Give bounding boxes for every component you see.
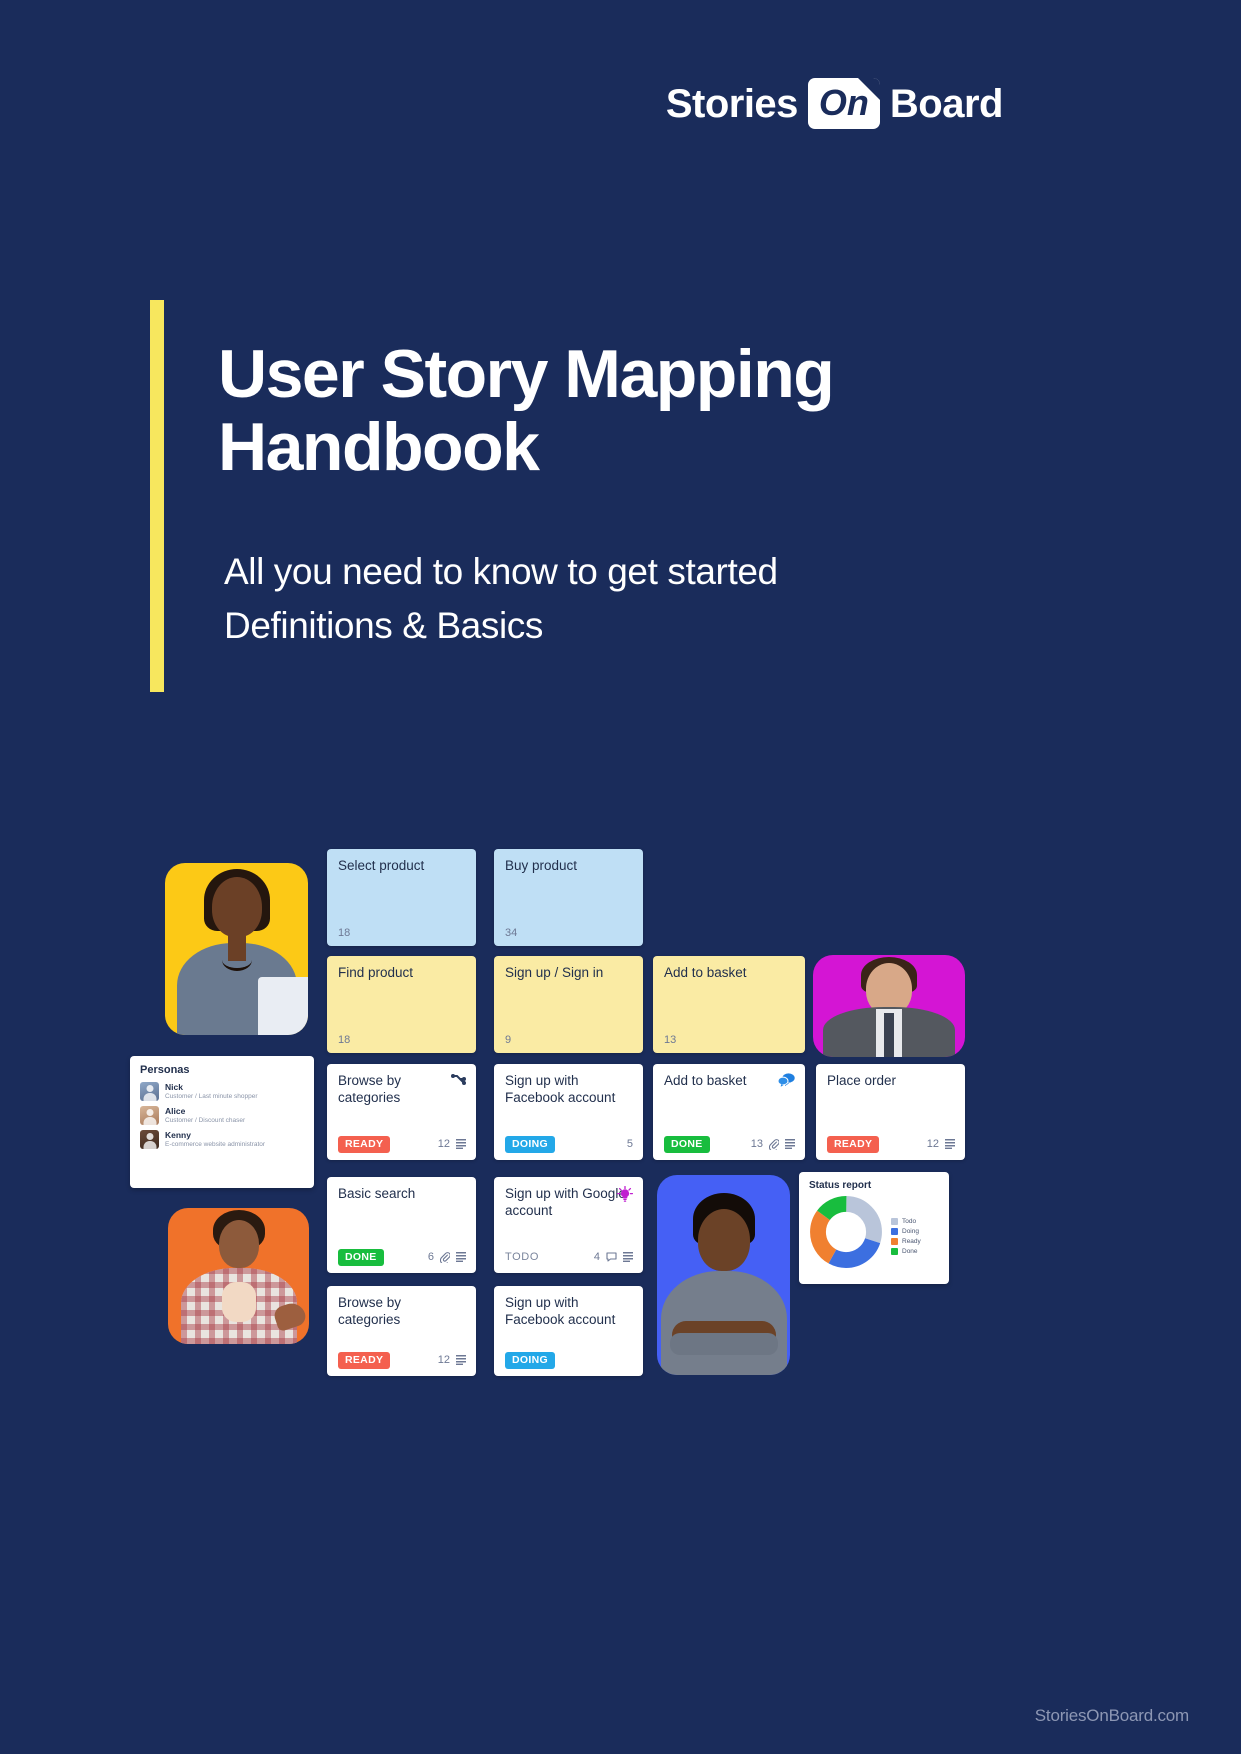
status-badge: DONE bbox=[664, 1136, 710, 1154]
card-footer: 34 bbox=[505, 927, 633, 939]
status-badge: DONE bbox=[338, 1249, 384, 1267]
description-icon bbox=[456, 1355, 466, 1365]
card-title: Add to basket bbox=[664, 965, 794, 982]
persona-role: Customer / Last minute shopper bbox=[165, 1093, 258, 1101]
legend-swatch bbox=[891, 1248, 898, 1255]
status-report-title: Status report bbox=[809, 1180, 939, 1191]
photo-woman-orange bbox=[168, 1208, 309, 1344]
card-count: 13 bbox=[664, 1034, 676, 1046]
story-card[interactable]: Sign up with Facebook account DOING bbox=[494, 1286, 643, 1376]
story-map-board: Select product 18 Buy product 34 Find pr… bbox=[0, 0, 1241, 1754]
personas-title: Personas bbox=[140, 1064, 304, 1076]
legend-swatch bbox=[891, 1228, 898, 1235]
step-card[interactable]: Add to basket 13 bbox=[653, 956, 805, 1053]
card-count: 13 bbox=[751, 1138, 763, 1150]
legend-item: Ready bbox=[891, 1238, 921, 1245]
card-title: Browse by categories bbox=[338, 1073, 465, 1107]
persona-name: Nick bbox=[165, 1082, 258, 1093]
persona-name: Alice bbox=[165, 1106, 245, 1117]
story-card[interactable]: Sign up with Google account TODO bbox=[494, 1177, 643, 1273]
card-title: Buy product bbox=[505, 858, 632, 875]
card-footer: DOING bbox=[505, 1352, 633, 1370]
card-title: Browse by categories bbox=[338, 1295, 465, 1329]
status-badge: READY bbox=[827, 1136, 879, 1154]
list-item[interactable]: Kenny E-commerce website administrator bbox=[140, 1130, 304, 1149]
activity-card[interactable]: Buy product 34 bbox=[494, 849, 643, 946]
personas-panel[interactable]: Personas Nick Customer / Last minute sho… bbox=[130, 1056, 314, 1188]
branch-icon bbox=[451, 1073, 466, 1086]
story-card[interactable]: Add to basket DONE 13 bbox=[653, 1064, 805, 1160]
status-badge: TODO bbox=[505, 1249, 546, 1267]
photo-woman-yellow bbox=[165, 863, 308, 1035]
cover-page: Stories On Board User Story Mapping Hand… bbox=[0, 0, 1241, 1754]
persona-name: Kenny bbox=[165, 1130, 265, 1141]
card-title: Sign up with Facebook account bbox=[505, 1295, 632, 1329]
list-item[interactable]: Nick Customer / Last minute shopper bbox=[140, 1082, 304, 1101]
legend-item: Doing bbox=[891, 1228, 921, 1235]
card-count: 6 bbox=[428, 1251, 434, 1263]
card-count: 34 bbox=[505, 927, 517, 939]
card-title: Sign up / Sign in bbox=[505, 965, 632, 982]
card-count: 18 bbox=[338, 1034, 350, 1046]
list-item[interactable]: Alice Customer / Discount chaser bbox=[140, 1106, 304, 1125]
step-card[interactable]: Find product 18 bbox=[327, 956, 476, 1053]
avatar bbox=[168, 1208, 309, 1344]
legend-swatch bbox=[891, 1238, 898, 1245]
card-footer: 13 bbox=[664, 1034, 795, 1046]
story-card[interactable]: Browse by categories READY 12 bbox=[327, 1064, 476, 1160]
step-card[interactable]: Sign up / Sign in 9 bbox=[494, 956, 643, 1053]
story-card[interactable]: Browse by categories READY 12 bbox=[327, 1286, 476, 1376]
comment-count-icon bbox=[606, 1252, 617, 1262]
card-title: Place order bbox=[827, 1073, 954, 1090]
legend-label: Done bbox=[902, 1248, 918, 1255]
comment-icon bbox=[778, 1073, 795, 1087]
lightbulb-icon bbox=[617, 1186, 633, 1202]
legend-swatch bbox=[891, 1218, 898, 1225]
card-footer: 18 bbox=[338, 927, 466, 939]
card-footer: TODO 4 bbox=[505, 1249, 633, 1267]
avatar bbox=[657, 1175, 790, 1375]
card-title: Find product bbox=[338, 965, 465, 982]
legend-label: Ready bbox=[902, 1238, 921, 1245]
card-count: 9 bbox=[505, 1034, 511, 1046]
persona-role: E-commerce website administrator bbox=[165, 1141, 265, 1149]
photo-man-blue bbox=[657, 1175, 790, 1375]
status-donut-chart bbox=[809, 1195, 883, 1274]
card-footer: 18 bbox=[338, 1034, 466, 1046]
status-report-panel[interactable]: Status report Todo bbox=[799, 1172, 949, 1284]
legend-item: Done bbox=[891, 1248, 921, 1255]
avatar bbox=[140, 1130, 159, 1149]
status-badge: READY bbox=[338, 1136, 390, 1154]
card-footer: READY 12 bbox=[338, 1136, 466, 1154]
card-title: Basic search bbox=[338, 1186, 465, 1203]
attachment-icon bbox=[769, 1139, 779, 1150]
card-footer: 9 bbox=[505, 1034, 633, 1046]
status-badge: READY bbox=[338, 1352, 390, 1370]
persona-role: Customer / Discount chaser bbox=[165, 1117, 245, 1125]
description-icon bbox=[785, 1139, 795, 1149]
card-footer: DOING 5 bbox=[505, 1136, 633, 1154]
footer-url: StoriesOnBoard.com bbox=[1035, 1706, 1189, 1726]
chart-legend: Todo Doing Ready Done bbox=[891, 1214, 921, 1255]
avatar bbox=[140, 1082, 159, 1101]
card-count: 18 bbox=[338, 927, 350, 939]
attachment-icon bbox=[440, 1252, 450, 1263]
card-footer: DONE 6 bbox=[338, 1249, 466, 1267]
card-count: 12 bbox=[438, 1138, 450, 1150]
photo-man-magenta bbox=[813, 955, 965, 1057]
card-title: Sign up with Google account bbox=[505, 1186, 632, 1220]
avatar bbox=[140, 1106, 159, 1125]
legend-label: Todo bbox=[902, 1218, 916, 1225]
card-count: 12 bbox=[927, 1138, 939, 1150]
description-icon bbox=[456, 1252, 466, 1262]
description-icon bbox=[945, 1139, 955, 1149]
story-card[interactable]: Sign up with Facebook account DOING 5 bbox=[494, 1064, 643, 1160]
card-title: Select product bbox=[338, 858, 465, 875]
legend-item: Todo bbox=[891, 1218, 921, 1225]
card-title: Add to basket bbox=[664, 1073, 794, 1090]
card-count: 12 bbox=[438, 1354, 450, 1366]
story-card[interactable]: Place order READY 12 bbox=[816, 1064, 965, 1160]
description-icon bbox=[456, 1139, 466, 1149]
card-count: 4 bbox=[594, 1251, 600, 1263]
card-count: 5 bbox=[627, 1138, 633, 1150]
card-title: Sign up with Facebook account bbox=[505, 1073, 632, 1107]
status-badge: DOING bbox=[505, 1136, 555, 1154]
legend-label: Doing bbox=[902, 1228, 919, 1235]
card-footer: READY 12 bbox=[827, 1136, 955, 1154]
avatar bbox=[165, 863, 308, 1035]
status-badge: DOING bbox=[505, 1352, 555, 1370]
card-footer: READY 12 bbox=[338, 1352, 466, 1370]
avatar bbox=[813, 955, 965, 1057]
story-card[interactable]: Basic search DONE 6 bbox=[327, 1177, 476, 1273]
description-icon bbox=[623, 1252, 633, 1262]
activity-card[interactable]: Select product 18 bbox=[327, 849, 476, 946]
card-footer: DONE 13 bbox=[664, 1136, 795, 1154]
